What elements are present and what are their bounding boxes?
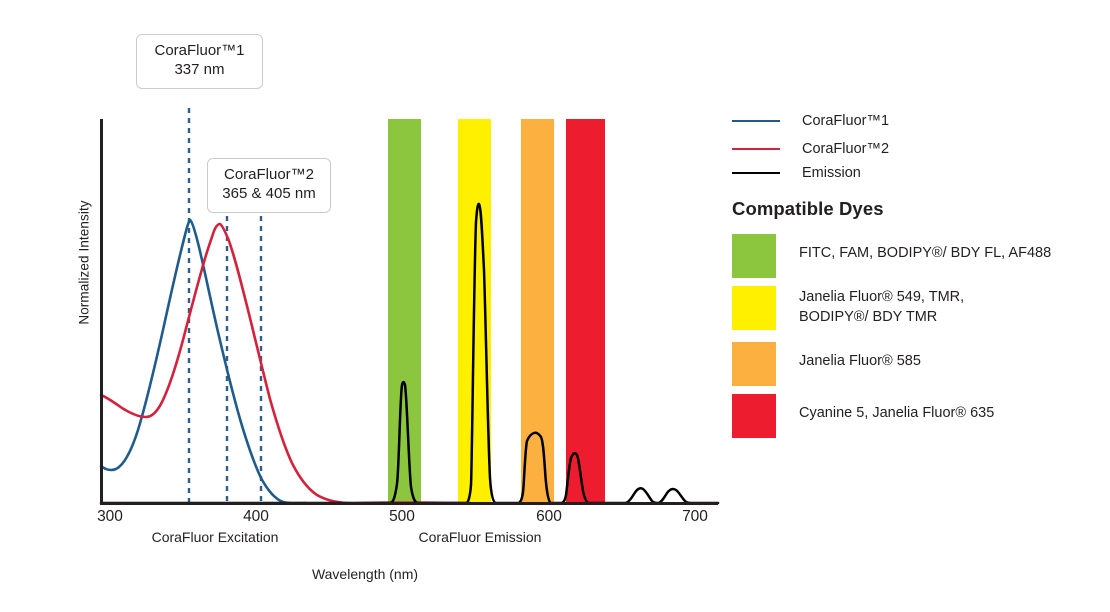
legend-item-corafluor2: CoraFluor™2 (732, 141, 889, 157)
callout-corafluor1-line2: 337 nm (149, 61, 250, 80)
emission-bands (388, 119, 605, 503)
compatible-dyes-heading: Compatible Dyes (732, 198, 884, 220)
chart-area: Normalized Intensity 300 400 500 600 700… (0, 0, 730, 612)
dye-label-green: FITC, FAM, BODIPY®/ BDY FL, AF488 (799, 234, 1051, 264)
band-green (388, 119, 421, 503)
legend-label-corafluor1: CoraFluor™1 (802, 113, 889, 129)
dye-item-yellow: Janelia Fluor® 549, TMR, BODIPY®/ BDY TM… (732, 286, 964, 330)
legend-label-emission: Emission (802, 165, 861, 181)
legend-line-emission-icon (732, 172, 780, 174)
x-tick-300: 300 (75, 508, 145, 526)
y-axis-label: Normalized Intensity (77, 163, 92, 363)
callout-corafluor1-line1: CoraFluor™1 (149, 42, 250, 61)
region-label-excitation: CoraFluor Excitation (105, 529, 325, 545)
legend-line-corafluor1-icon (732, 120, 780, 122)
dye-label-yellow: Janelia Fluor® 549, TMR, BODIPY®/ BDY TM… (799, 286, 964, 327)
callout-corafluor2: CoraFluor™2 365 & 405 nm (207, 158, 331, 213)
callout-corafluor1: CoraFluor™1 337 nm (136, 34, 263, 89)
dye-item-green: FITC, FAM, BODIPY®/ BDY FL, AF488 (732, 234, 1051, 278)
figure-root: Normalized Intensity 300 400 500 600 700… (0, 0, 1110, 612)
dye-swatch-green (732, 234, 776, 278)
x-tick-600: 600 (514, 508, 584, 526)
region-label-emission: CoraFluor Emission (370, 529, 590, 545)
dye-swatch-orange (732, 342, 776, 386)
x-tick-500: 500 (367, 508, 437, 526)
dye-item-orange: Janelia Fluor® 585 (732, 342, 921, 386)
dye-swatch-red (732, 394, 776, 438)
legend-line-corafluor2-icon (732, 148, 780, 150)
callout-corafluor2-line2: 365 & 405 nm (220, 185, 318, 204)
band-red (566, 119, 605, 503)
dye-label-orange: Janelia Fluor® 585 (799, 342, 921, 372)
callout-corafluor2-line1: CoraFluor™2 (220, 166, 318, 185)
x-tick-400: 400 (221, 508, 291, 526)
x-tick-700: 700 (660, 508, 730, 526)
legend-label-corafluor2: CoraFluor™2 (802, 141, 889, 157)
dye-swatch-yellow (732, 286, 776, 330)
legend-item-emission: Emission (732, 165, 861, 181)
dye-item-red: Cyanine 5, Janelia Fluor® 635 (732, 394, 994, 438)
legend-panel: CoraFluor™1 CoraFluor™2 Emission Compati… (730, 0, 1110, 612)
x-axis-label: Wavelength (nm) (0, 566, 730, 582)
dye-label-red: Cyanine 5, Janelia Fluor® 635 (799, 394, 994, 424)
legend-item-corafluor1: CoraFluor™1 (732, 113, 889, 129)
